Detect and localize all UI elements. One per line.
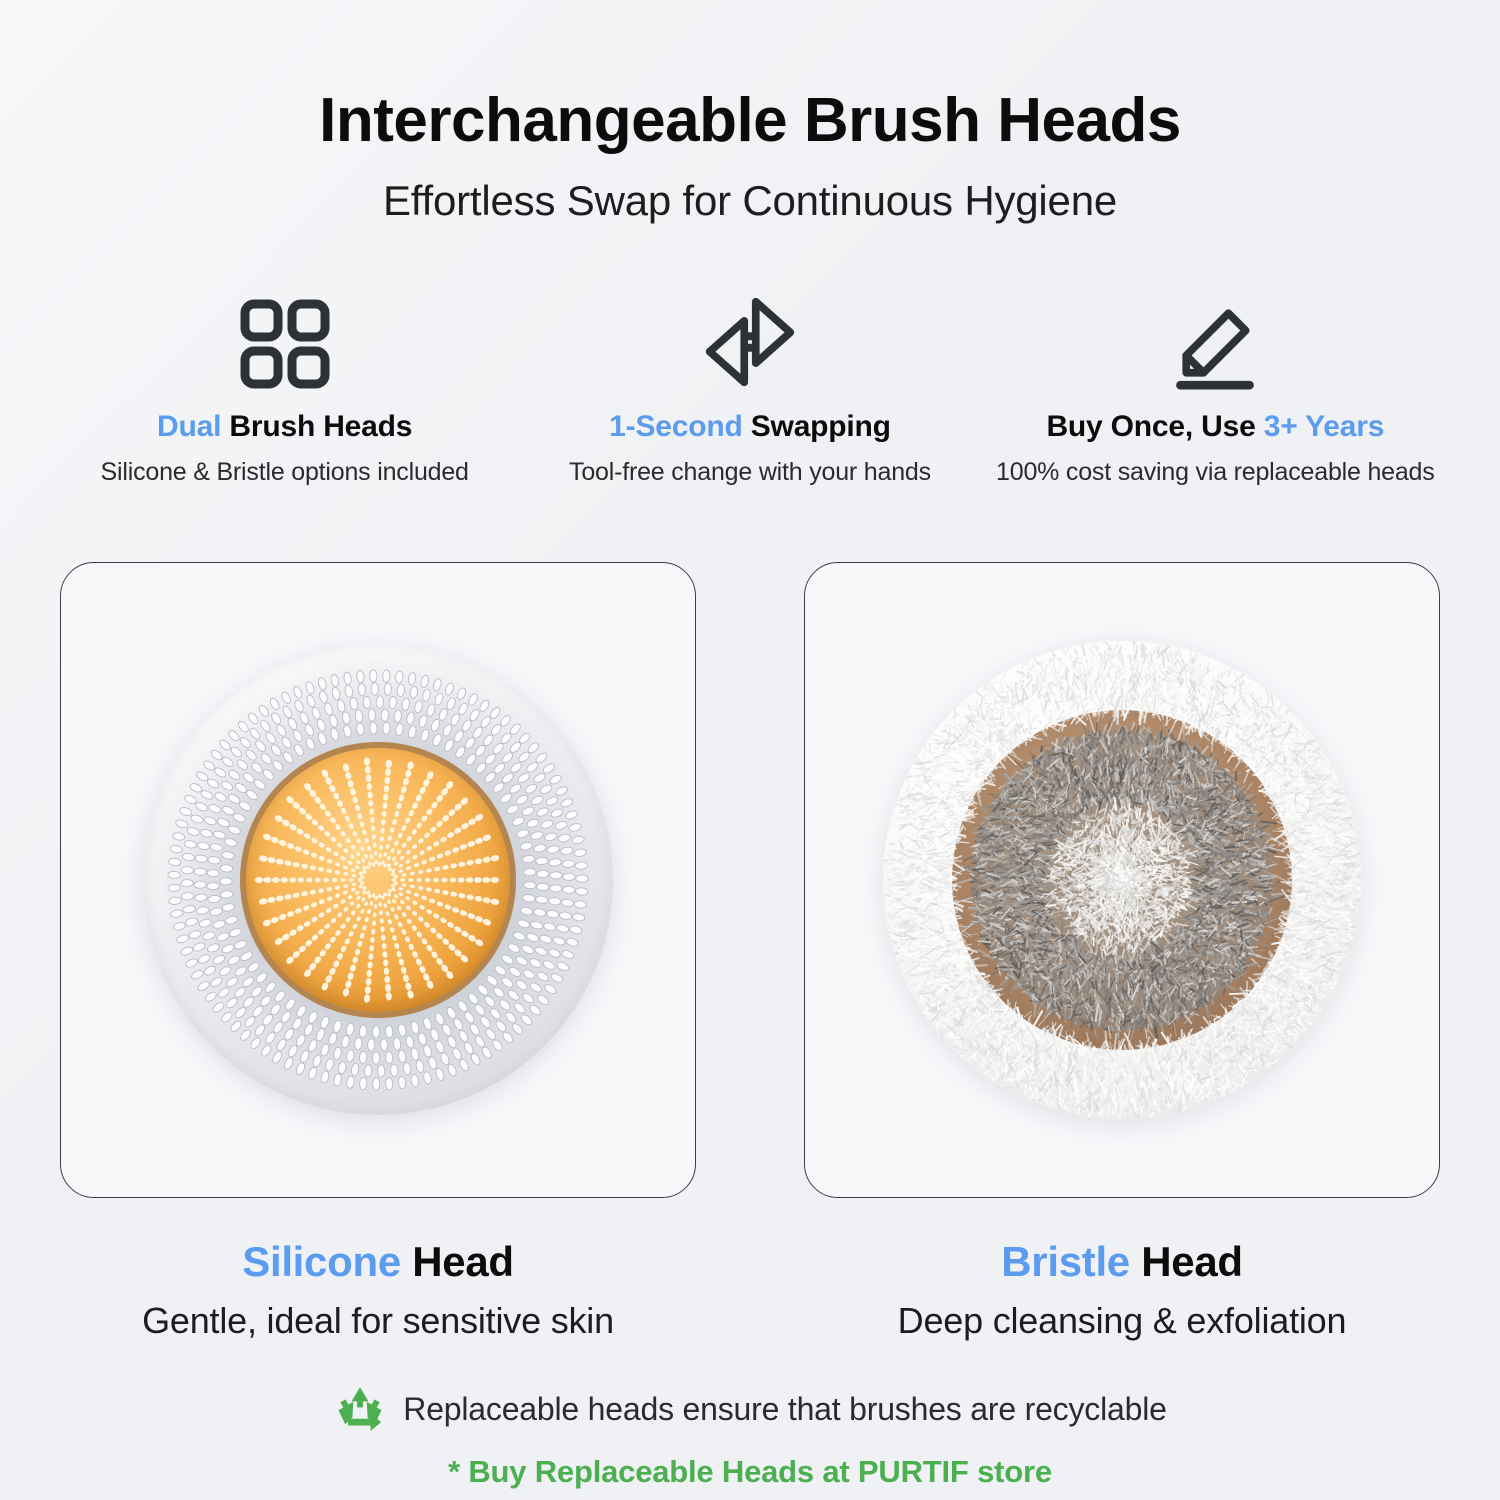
footer-note: Replaceable heads ensure that brushes ar… xyxy=(403,1391,1166,1428)
caption-silicone: Silicone Head Gentle, ideal for sensitiv… xyxy=(60,1238,696,1342)
page-title: Interchangeable Brush Heads xyxy=(0,88,1500,155)
silicone-brush-head-image xyxy=(143,645,613,1115)
header: Interchangeable Brush Heads Effortless S… xyxy=(0,0,1500,225)
footer: Replaceable heads ensure that brushes ar… xyxy=(0,1382,1500,1490)
feature-title-plain: Buy Once, Use xyxy=(1046,410,1263,443)
feature-title-highlight: Dual xyxy=(157,410,221,443)
feature-dual-brush-heads: Dual Brush Heads Silicone & Bristle opti… xyxy=(52,295,517,487)
footer-recycle-line: Replaceable heads ensure that brushes ar… xyxy=(0,1382,1500,1436)
caption-title-rest: Head xyxy=(1130,1238,1243,1285)
feature-subtitle: 100% cost saving via replaceable heads xyxy=(996,458,1435,487)
feature-buy-once-use-years: Buy Once, Use 3+ Years 100% cost saving … xyxy=(983,295,1448,487)
silicone-core-disc xyxy=(240,742,516,1018)
footer-store-line[interactable]: * Buy Replaceable Heads at PURTIF store xyxy=(0,1454,1500,1490)
feature-title: 1-Second Swapping xyxy=(609,410,891,444)
feature-title-highlight: 1-Second xyxy=(609,410,742,443)
feature-title-rest: Swapping xyxy=(743,410,891,443)
caption-title: Silicone Head xyxy=(60,1238,696,1286)
feature-one-second-swapping: 1-Second Swapping Tool-free change with … xyxy=(517,295,982,487)
page-subtitle: Effortless Swap for Continuous Hygiene xyxy=(0,177,1500,225)
feature-title: Buy Once, Use 3+ Years xyxy=(1046,410,1384,444)
feature-title-rest: Brush Heads xyxy=(221,410,412,443)
bristle-brush-head-image xyxy=(883,641,1361,1119)
feature-subtitle: Tool-free change with your hands xyxy=(569,458,931,487)
swap-arrows-icon xyxy=(702,295,798,390)
caption-title-highlight: Silicone xyxy=(242,1238,401,1285)
infographic-page: Interchangeable Brush Heads Effortless S… xyxy=(0,0,1500,1500)
caption-title-highlight: Bristle xyxy=(1001,1238,1130,1285)
caption-bristle: Bristle Head Deep cleansing & exfoliatio… xyxy=(804,1238,1440,1342)
feature-title: Dual Brush Heads xyxy=(157,410,412,444)
recycle-icon xyxy=(333,1382,387,1436)
four-squares-icon xyxy=(239,295,331,390)
product-cards xyxy=(0,562,1500,1198)
product-card-silicone[interactable] xyxy=(60,562,696,1198)
pencil-underline-icon xyxy=(1167,295,1263,390)
caption-title-rest: Head xyxy=(401,1238,514,1285)
feature-subtitle: Silicone & Bristle options included xyxy=(101,458,469,487)
caption-title: Bristle Head xyxy=(804,1238,1440,1286)
feature-row: Dual Brush Heads Silicone & Bristle opti… xyxy=(0,295,1500,487)
feature-title-highlight: 3+ Years xyxy=(1264,410,1384,443)
product-captions: Silicone Head Gentle, ideal for sensitiv… xyxy=(0,1238,1500,1342)
caption-subtitle: Deep cleansing & exfoliation xyxy=(804,1300,1440,1342)
product-card-bristle[interactable] xyxy=(804,562,1440,1198)
caption-subtitle: Gentle, ideal for sensitive skin xyxy=(60,1300,696,1342)
